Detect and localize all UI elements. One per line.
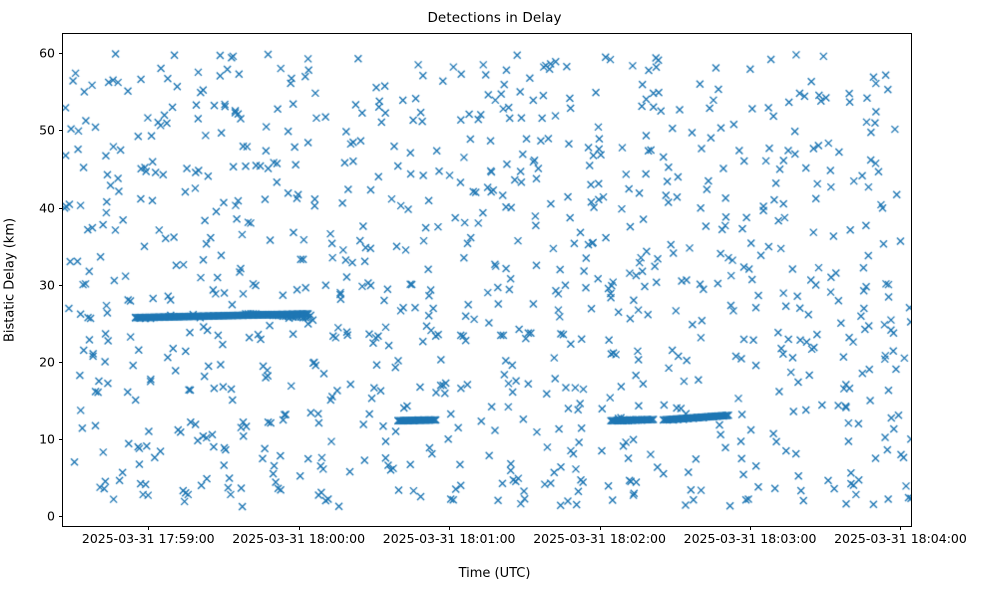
y-tick-label: 50 — [39, 123, 55, 138]
y-tick-mark — [59, 285, 63, 286]
y-tick-mark — [59, 208, 63, 209]
y-tick-label: 10 — [39, 432, 55, 447]
x-tick-mark — [449, 526, 450, 530]
plot-area: 0102030405060 2025-03-31 17:59:002025-03… — [62, 33, 912, 527]
y-tick-label: 30 — [39, 277, 55, 292]
x-tick-label: 2025-03-31 18:02:00 — [533, 532, 666, 545]
y-tick-mark — [59, 130, 63, 131]
y-tick-mark — [59, 362, 63, 363]
x-tick-label: 2025-03-31 18:01:00 — [383, 532, 516, 545]
y-tick-mark — [59, 516, 63, 517]
page-title: Detections in Delay — [0, 10, 989, 26]
x-tick-label: 2025-03-31 17:59:00 — [82, 532, 215, 545]
x-tick-mark — [600, 526, 601, 530]
y-tick-label: 40 — [39, 200, 55, 215]
x-tick-label: 2025-03-31 18:03:00 — [684, 532, 817, 545]
x-axis-label: Time (UTC) — [0, 566, 989, 581]
x-tick-label: 2025-03-31 18:00:00 — [232, 532, 365, 545]
y-axis-label: Bistatic Delay (km) — [3, 218, 18, 342]
x-tick-mark — [750, 526, 751, 530]
x-tick-label: 2025-03-31 18:04:00 — [834, 532, 967, 545]
y-tick-mark — [59, 439, 63, 440]
x-tick-mark — [900, 526, 901, 530]
y-tick-label: 60 — [39, 46, 55, 61]
x-tick-mark — [148, 526, 149, 530]
y-tick-mark — [59, 53, 63, 54]
y-tick-label: 0 — [47, 509, 55, 524]
scatter-plot-canvas — [63, 34, 911, 526]
figure: Detections in Delay Bistatic Delay (km) … — [0, 0, 989, 590]
x-tick-mark — [299, 526, 300, 530]
y-tick-label: 20 — [39, 355, 55, 370]
